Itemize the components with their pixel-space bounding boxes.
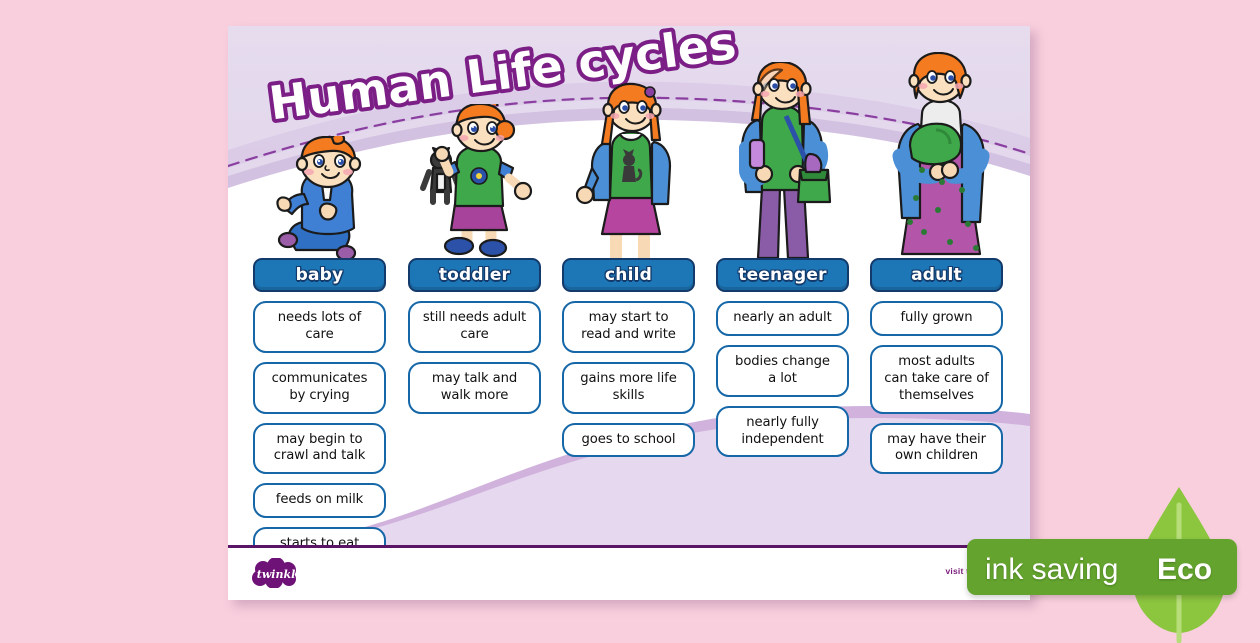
stage-header-label: child: [605, 265, 652, 285]
eco-badge-label-left: ink saving: [985, 553, 1118, 587]
eco-badge-label-right: Eco: [1157, 553, 1212, 587]
twinkl-logo-text: twinkl: [257, 568, 296, 581]
fact-card[interactable]: may begin tocrawl and talk: [253, 423, 386, 475]
ink-saving-eco-badge: ink saving Eco: [967, 531, 1260, 601]
twinkl-logo[interactable]: twinkl: [250, 558, 302, 588]
fact-card[interactable]: goes to school: [562, 423, 695, 458]
fact-card[interactable]: may start toread and write: [562, 301, 695, 353]
stage-column-adult: adultfully grownmost adultscan take care…: [870, 258, 1003, 483]
fact-card[interactable]: still needs adultcare: [408, 301, 541, 353]
fact-card[interactable]: nearly fullyindependent: [716, 406, 849, 458]
stage-header-label: teenager: [738, 265, 826, 285]
life-stage-columns: babyneeds lots of carecommunicatesby cry…: [228, 26, 1030, 600]
stage-column-baby: babyneeds lots of carecommunicatesby cry…: [253, 258, 386, 588]
stage-column-toddler: toddlerstill needs adultcaremay talk and…: [408, 258, 541, 423]
stage-column-teenager: teenagernearly an adultbodies changea lo…: [716, 258, 849, 466]
fact-card[interactable]: gains more lifeskills: [562, 362, 695, 414]
stage-header-label: adult: [911, 265, 962, 285]
stage-header-label: toddler: [439, 265, 510, 285]
stage-header-child[interactable]: child: [562, 258, 695, 292]
fact-card[interactable]: feeds on milk: [253, 483, 386, 518]
stage-header-teenager[interactable]: teenager: [716, 258, 849, 292]
stage-header-label: baby: [296, 265, 344, 285]
fact-card[interactable]: may have theirown children: [870, 423, 1003, 475]
stage-header-baby[interactable]: baby: [253, 258, 386, 292]
poster-page: Human Life cycles: [0, 0, 1260, 630]
fact-card[interactable]: communicatesby crying: [253, 362, 386, 414]
fact-card[interactable]: fully grown: [870, 301, 1003, 336]
stage-column-child: childmay start toread and writegains mor…: [562, 258, 695, 466]
poster-card: Human Life cycles: [228, 26, 1030, 600]
stage-header-adult[interactable]: adult: [870, 258, 1003, 292]
fact-card[interactable]: nearly an adult: [716, 301, 849, 336]
poster-footer: twinkl visit twinkl.com: [228, 545, 1030, 600]
stage-header-toddler[interactable]: toddler: [408, 258, 541, 292]
fact-card[interactable]: most adultscan take care ofthemselves: [870, 345, 1003, 414]
fact-card[interactable]: may talk andwalk more: [408, 362, 541, 414]
fact-card[interactable]: bodies changea lot: [716, 345, 849, 397]
fact-card[interactable]: needs lots of care: [253, 301, 386, 353]
